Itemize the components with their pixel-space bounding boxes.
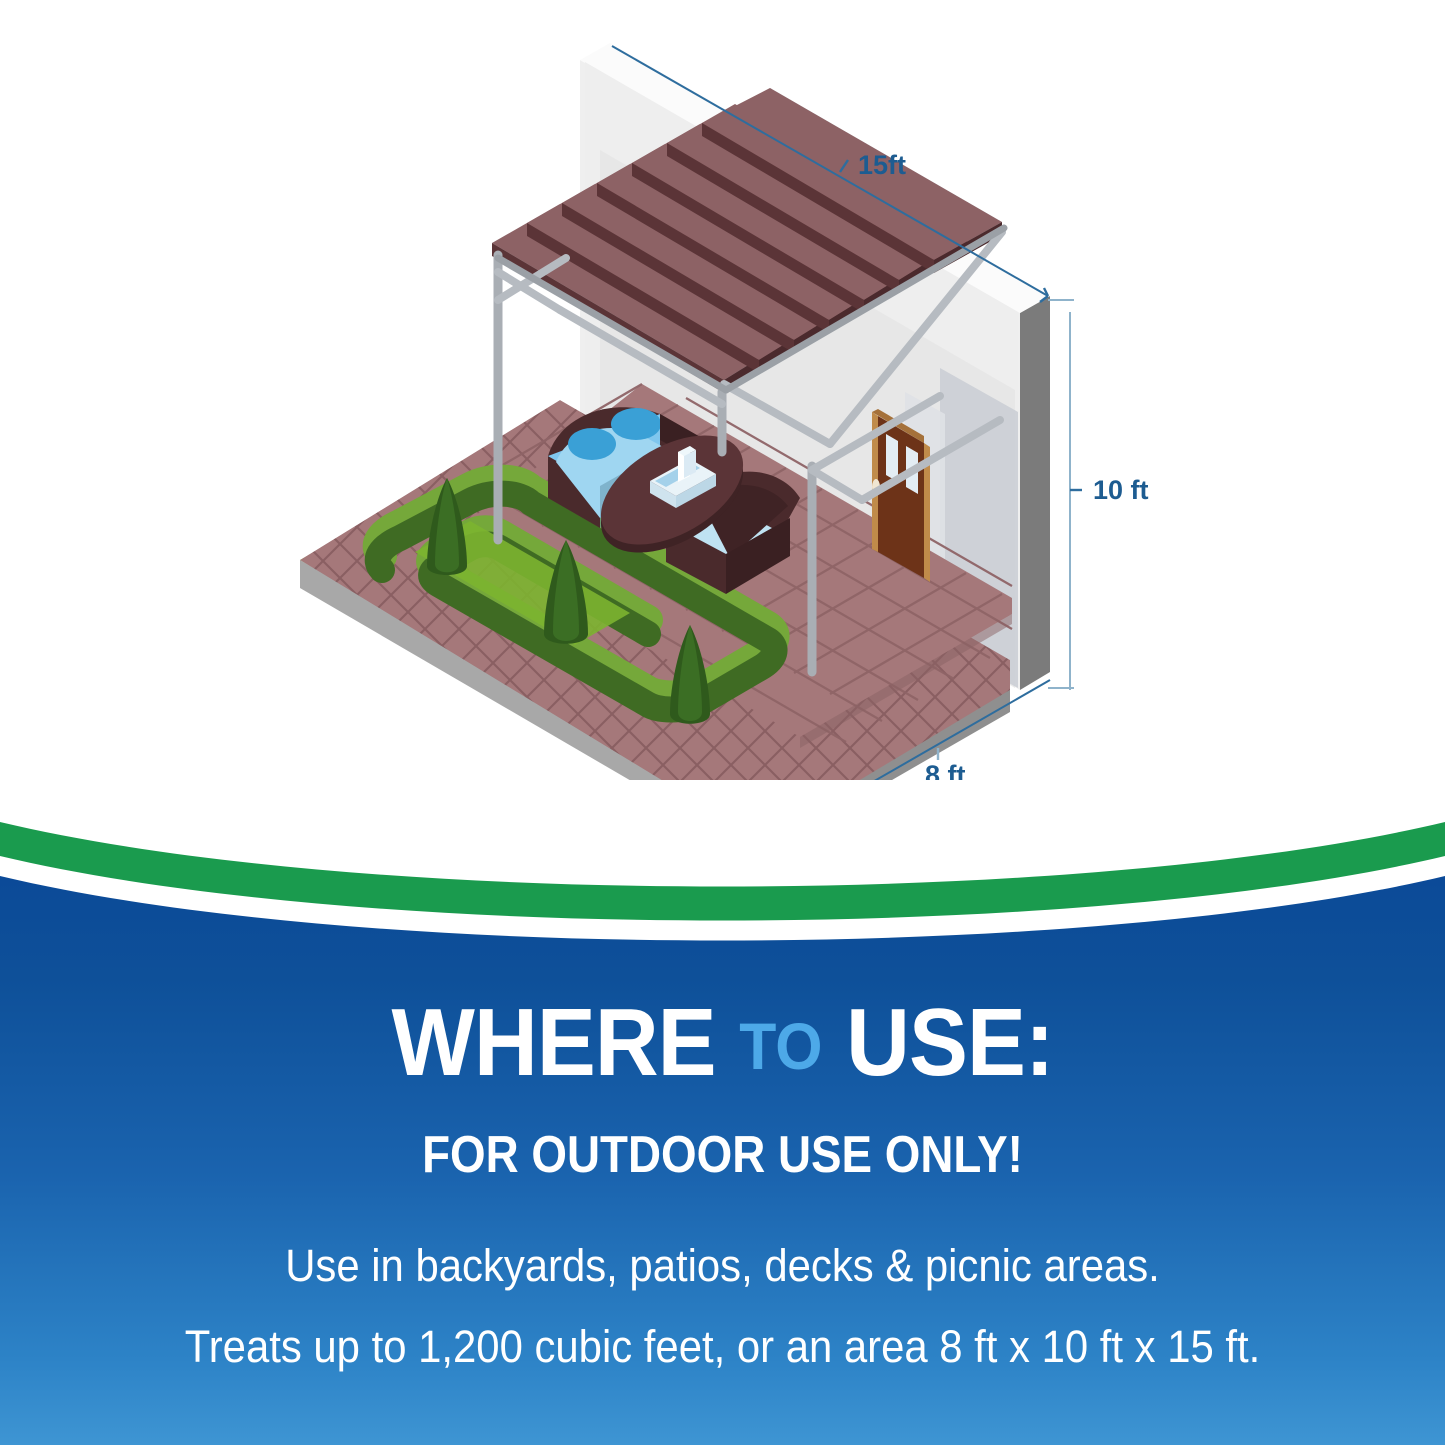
where-to-use-text-block: WHERE TO USE: FOR OUTDOOR USE ONLY! Use … bbox=[0, 995, 1445, 1369]
body-line-usage: Use in backyards, patios, decks & picnic… bbox=[51, 1243, 1395, 1288]
dimension-label-width: 15ft bbox=[858, 150, 906, 181]
dimension-label-height: 10 ft bbox=[1093, 475, 1149, 506]
headline-accent-to: TO bbox=[739, 1009, 822, 1083]
subheadline: FOR OUTDOOR USE ONLY! bbox=[87, 1129, 1359, 1181]
headline-part-1: WHERE bbox=[392, 989, 740, 1096]
headline-part-2: USE: bbox=[823, 989, 1054, 1096]
patio-illustration: 15ft 10 ft 8 ft bbox=[0, 0, 1445, 900]
page-title: WHERE TO USE: bbox=[58, 995, 1387, 1091]
where-to-use-poster: 15ft 10 ft 8 ft WHERE bbox=[0, 0, 1445, 1445]
body-line-coverage: Treats up to 1,200 cubic feet, or an are… bbox=[51, 1324, 1395, 1369]
